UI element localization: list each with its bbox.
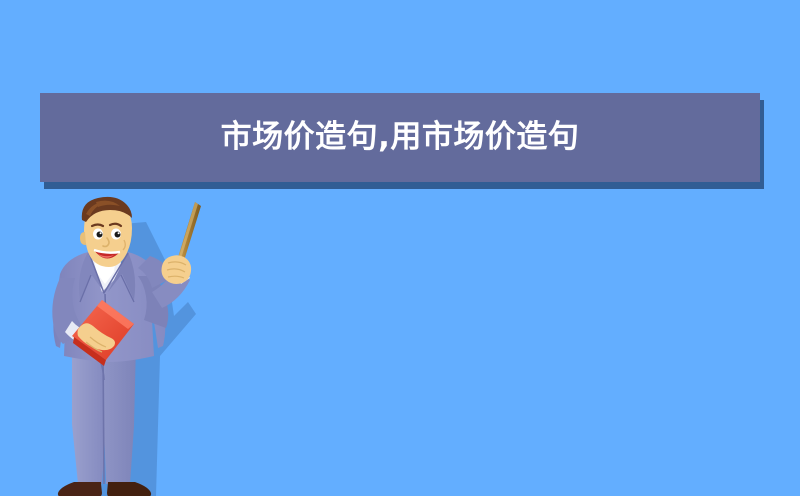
title-banner: 市场价造句,用市场价造句 <box>40 93 760 182</box>
page-title: 市场价造句,用市场价造句 <box>221 122 580 153</box>
teacher-illustration <box>28 196 228 496</box>
teacher-illustration-svg <box>28 196 228 496</box>
page-root: 市场价造句,用市场价造句 <box>0 0 800 496</box>
right-hand <box>162 255 192 284</box>
